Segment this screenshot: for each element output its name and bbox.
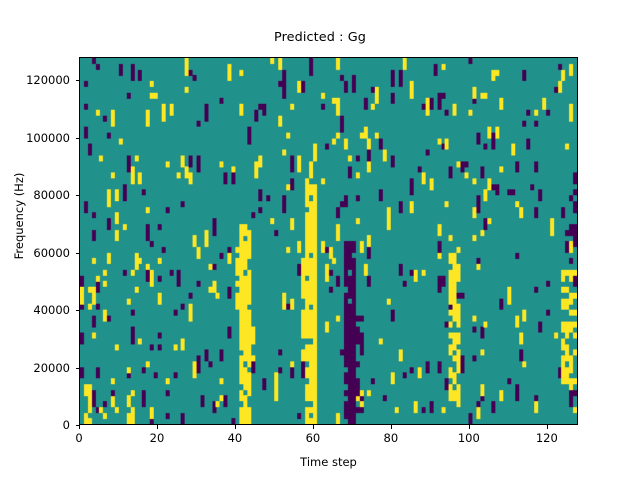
matplotlib-figure: Predicted : Gg Frequency (Hz) Time step … bbox=[0, 0, 640, 480]
y-tick-mark bbox=[76, 253, 80, 254]
y-tick-label: 60000 bbox=[0, 246, 70, 260]
x-tick-mark bbox=[469, 425, 470, 429]
x-tick-label: 0 bbox=[49, 431, 109, 445]
y-tick-mark bbox=[76, 310, 80, 311]
x-tick-label: 60 bbox=[283, 431, 343, 445]
heatmap-canvas bbox=[80, 58, 577, 424]
y-tick-label: 120000 bbox=[0, 73, 70, 87]
x-tick-label: 40 bbox=[205, 431, 265, 445]
y-tick-label: 20000 bbox=[0, 361, 70, 375]
x-tick-label: 120 bbox=[517, 431, 577, 445]
y-tick-label: 40000 bbox=[0, 303, 70, 317]
x-tick-mark bbox=[157, 425, 158, 429]
y-tick-mark bbox=[76, 425, 80, 426]
x-axis-label: Time step bbox=[79, 455, 578, 469]
y-tick-label: 0 bbox=[0, 418, 70, 432]
x-tick-mark bbox=[547, 425, 548, 429]
x-tick-mark bbox=[79, 425, 80, 429]
y-tick-mark bbox=[76, 195, 80, 196]
x-tick-mark bbox=[235, 425, 236, 429]
heatmap-axes bbox=[79, 57, 578, 425]
x-tick-mark bbox=[313, 425, 314, 429]
y-tick-mark bbox=[76, 368, 80, 369]
chart-title: Predicted : Gg bbox=[0, 30, 640, 45]
y-tick-label: 100000 bbox=[0, 131, 70, 145]
y-tick-mark bbox=[76, 138, 80, 139]
x-tick-label: 100 bbox=[439, 431, 499, 445]
x-tick-label: 20 bbox=[127, 431, 187, 445]
y-tick-label: 80000 bbox=[0, 188, 70, 202]
x-tick-mark bbox=[391, 425, 392, 429]
x-tick-label: 80 bbox=[361, 431, 421, 445]
y-tick-mark bbox=[76, 80, 80, 81]
